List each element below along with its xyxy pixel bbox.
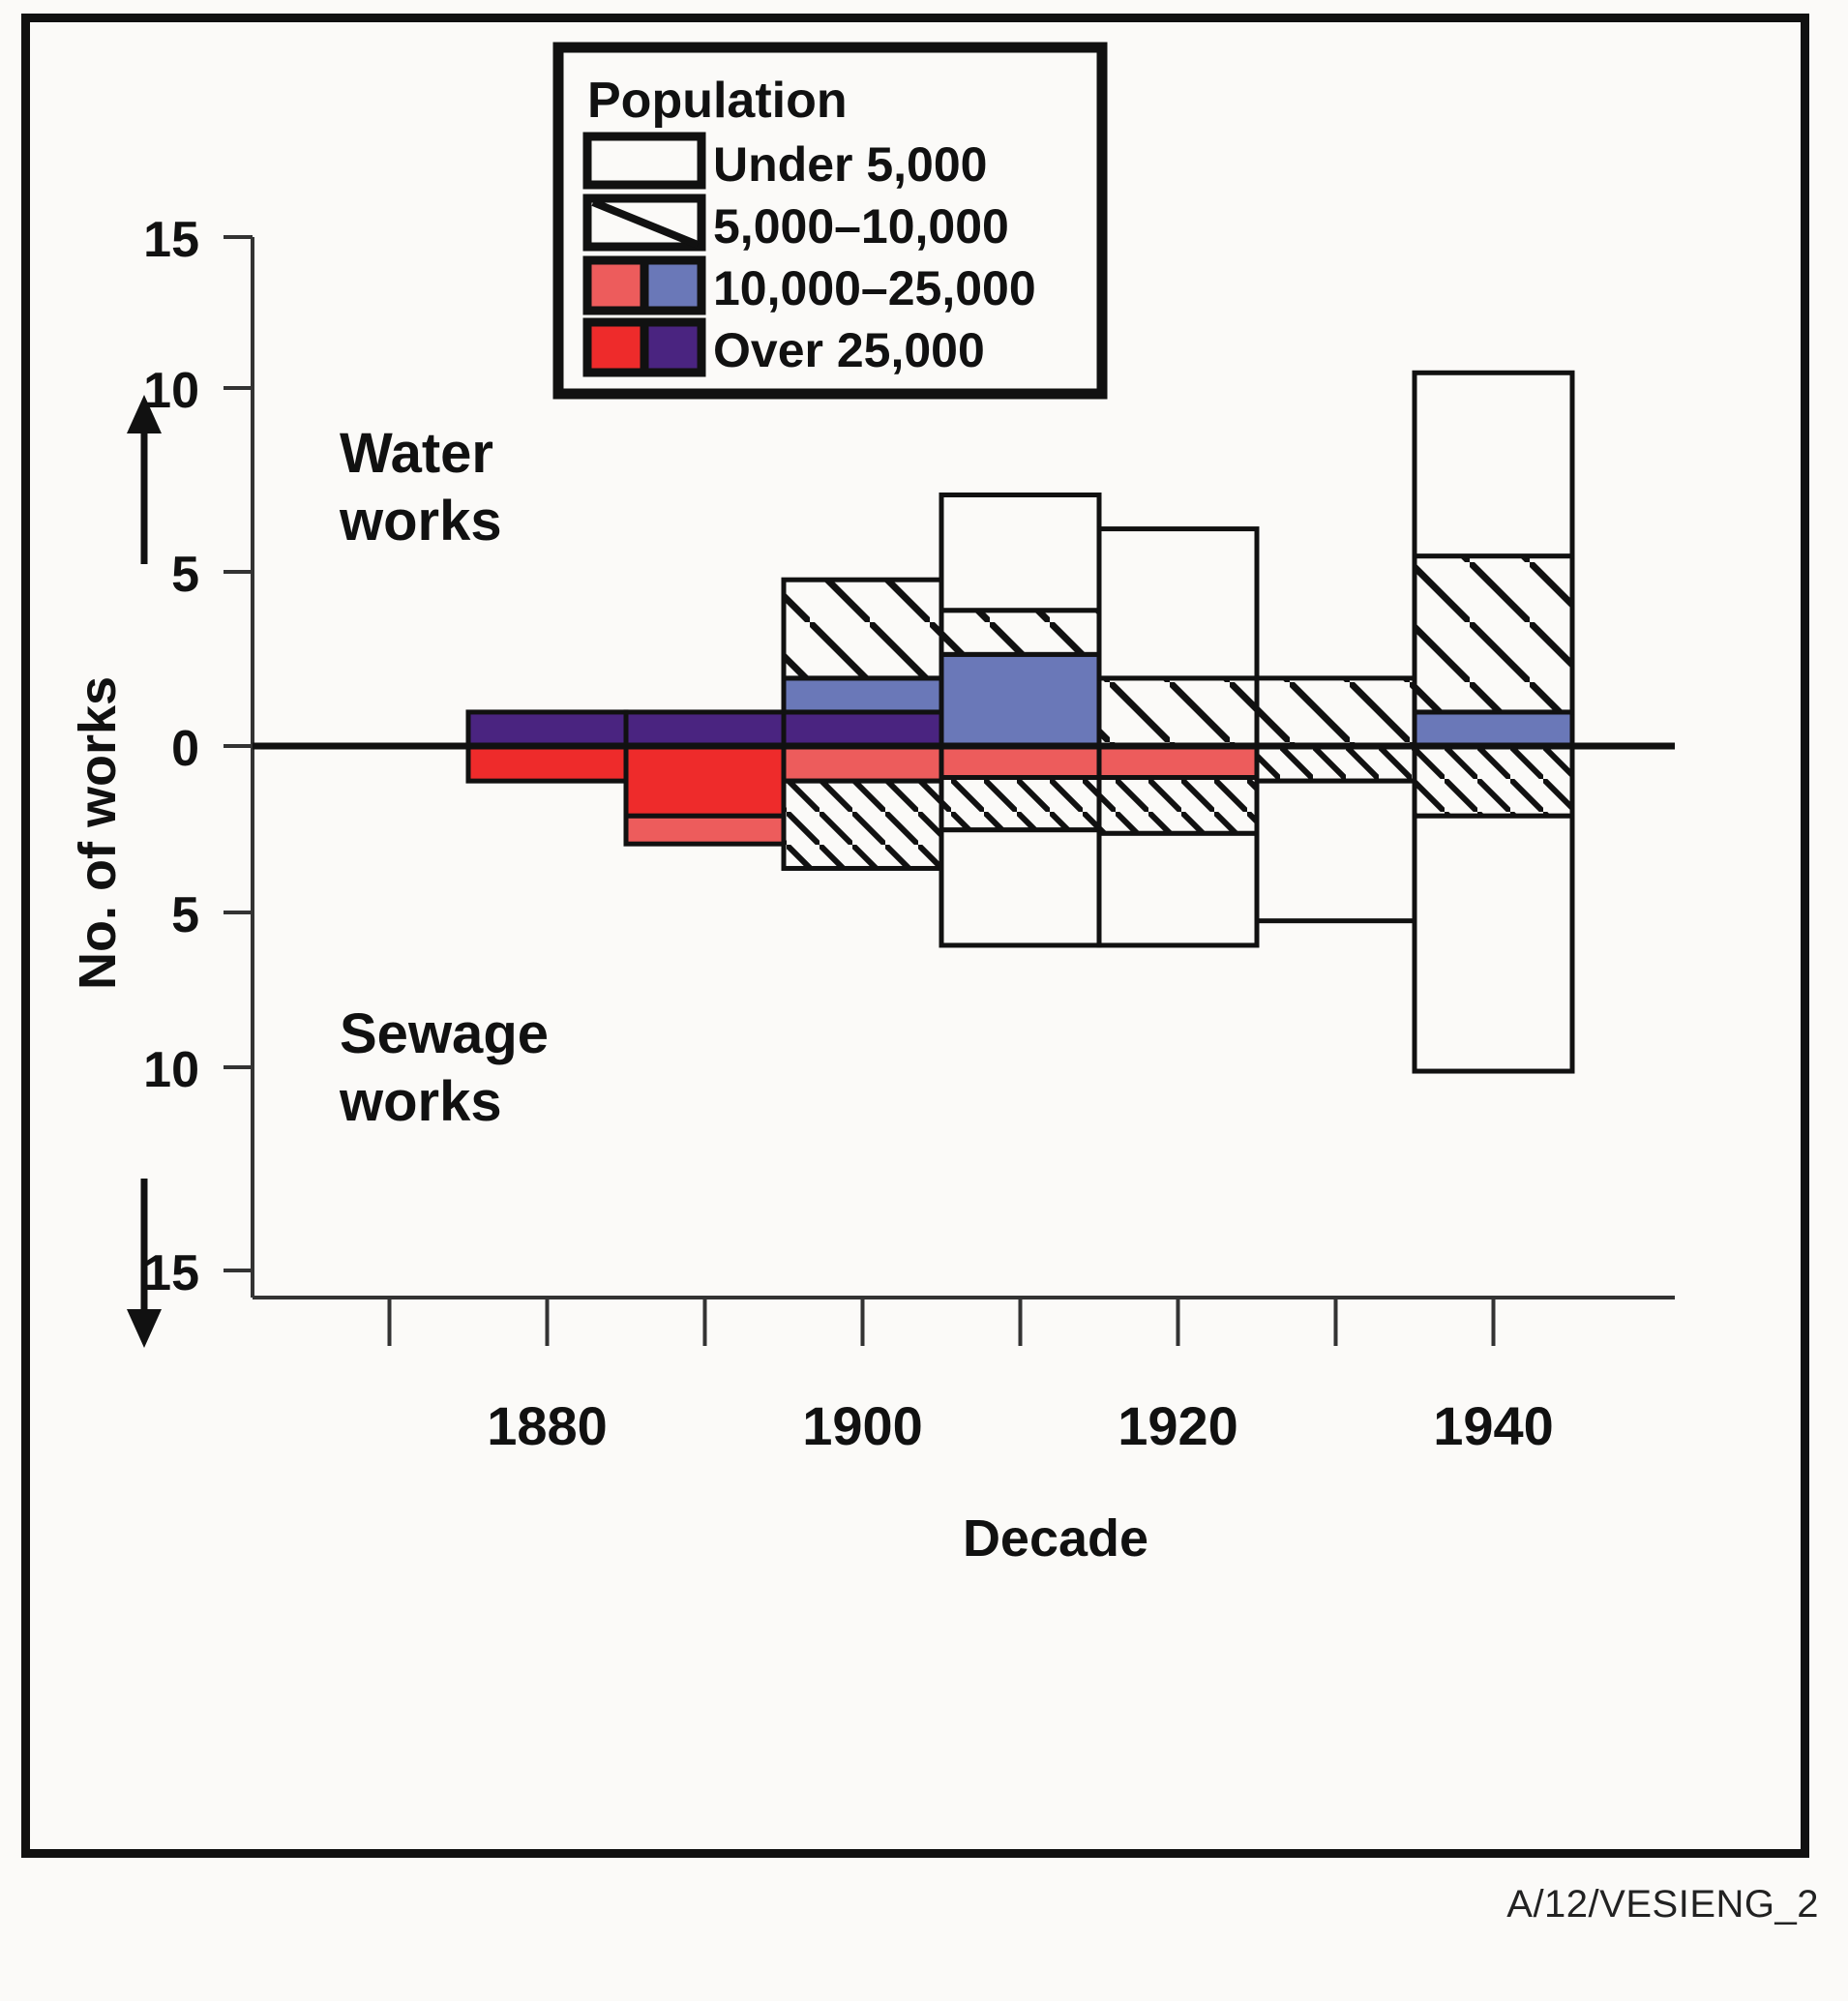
figure-caption: A/12/VESIENG_2 [1506,1883,1819,1926]
y-axis-ticks [224,237,253,1270]
legend-title: Population [587,73,848,129]
segment-water-10-000-25-000 [1415,712,1572,746]
figure-page: 15 10 5 0 5 10 15 No. of works Water wor… [0,0,1848,2001]
y-tick-label-15-bottom: 15 [143,1245,199,1301]
bar-1930 [1257,678,1415,921]
segment-sewage-under-5-000 [1099,833,1257,945]
legend-swatch-over-25000 [587,322,701,373]
segment-sewage-over-25-000 [626,746,784,816]
segment-water-over-25-000 [468,712,626,746]
segment-sewage-under-5-000 [941,830,1099,945]
legend: Population Under 5,000 5,000–10,000 10,0… [558,47,1102,394]
legend-label-5000-10000: 5,000–10,000 [713,199,1009,254]
segment-sewage-under-5-000 [1415,816,1572,1071]
segment-sewage-5-000-10-000 [784,781,941,868]
x-axis-ticks [390,1298,1494,1346]
segment-water-10-000-25-000 [941,654,1099,746]
segment-water-over-25-000 [626,712,784,746]
segment-sewage-5-000-10-000 [1257,746,1415,781]
segment-water-5-000-10-000 [1415,556,1572,712]
segment-water-under-5-000 [941,495,1099,611]
legend-swatch-10000-25000 [587,260,701,311]
segment-water-10-000-25-000 [784,678,941,712]
x-axis-tick-labels: 1880190019201940 [487,1395,1554,1456]
bar-1890 [626,712,784,844]
segment-sewage-over-25-000 [468,746,626,781]
bar-1920 [1099,529,1257,945]
segment-water-5-000-10-000 [1099,678,1257,746]
x-tick-label-1900: 1900 [802,1395,923,1456]
segment-water-over-25-000 [784,712,941,746]
segment-water-5-000-10-000 [784,580,941,678]
segment-sewage-5-000-10-000 [1415,746,1572,816]
bar-chart: 15 10 5 0 5 10 15 No. of works Water wor… [30,22,1801,1851]
y-tick-label-5-top: 5 [171,547,199,603]
segment-sewage-under-5-000 [1257,781,1415,921]
legend-swatch-under-5000 [587,136,701,185]
segment-water-5-000-10-000 [941,611,1099,655]
segment-water-5-000-10-000 [1257,678,1415,746]
figure-frame: 15 10 5 0 5 10 15 No. of works Water wor… [21,14,1809,1858]
legend-swatch-5000-10000 [587,198,701,247]
segment-sewage-10-000-25-000 [1099,746,1257,778]
segment-sewage-5-000-10-000 [941,778,1099,830]
y-tick-label-15-top: 15 [143,212,199,268]
bar-1900 [784,580,941,868]
sewage-works-annotation-line1: Sewage [340,1002,549,1065]
segment-water-under-5-000 [1099,529,1257,678]
segment-sewage-10-000-25-000 [941,746,1099,778]
bar-group [468,373,1572,1071]
water-works-annotation-line2: works [339,490,502,553]
y-tick-label-10-bottom: 10 [143,1042,199,1098]
water-works-annotation-line1: Water [340,422,493,485]
bar-1940 [1415,373,1572,1071]
y-axis-label: No. of works [69,676,127,990]
x-tick-label-1880: 1880 [487,1395,608,1456]
sewage-works-annotation-line2: works [339,1070,502,1133]
segment-sewage-10-000-25-000 [626,816,784,844]
segment-sewage-10-000-25-000 [784,746,941,781]
segment-sewage-5-000-10-000 [1099,778,1257,834]
up-arrow-icon [127,395,162,564]
y-tick-label-5-bottom: 5 [171,887,199,943]
x-tick-label-1940: 1940 [1433,1395,1554,1456]
y-tick-label-10-top: 10 [143,363,199,419]
x-axis-label: Decade [963,1509,1148,1568]
bar-1910 [941,495,1099,945]
legend-label-under-5000: Under 5,000 [713,137,987,192]
segment-water-under-5-000 [1415,373,1572,555]
y-tick-label-0: 0 [171,721,199,777]
legend-label-10000-25000: 10,000–25,000 [713,261,1036,315]
x-tick-label-1920: 1920 [1118,1395,1238,1456]
legend-label-over-25000: Over 25,000 [713,323,985,377]
